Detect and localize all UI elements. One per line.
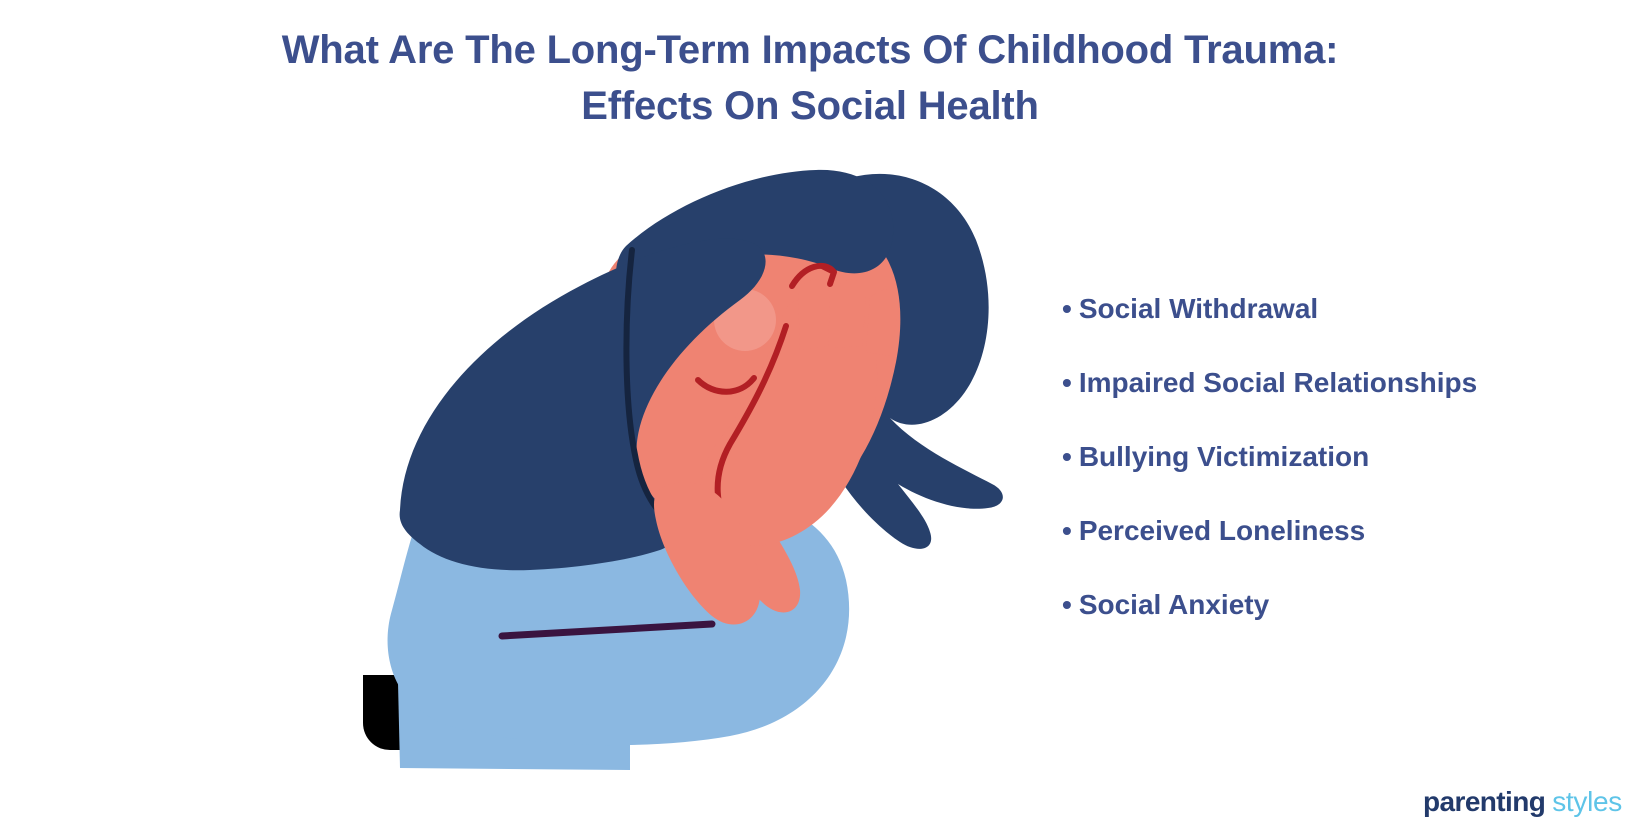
list-item: •Bullying Victimization — [1062, 440, 1637, 474]
list-item: •Perceived Loneliness — [1062, 514, 1637, 548]
list-item-label: Perceived Loneliness — [1079, 515, 1365, 546]
bullet-dot-icon: • — [1062, 440, 1072, 474]
list-item: •Social Withdrawal — [1062, 292, 1637, 326]
page-title: What Are The Long-Term Impacts Of Childh… — [120, 22, 1500, 134]
list-item-label: Social Anxiety — [1079, 589, 1269, 620]
bullet-dot-icon: • — [1062, 366, 1072, 400]
list-item-label: Impaired Social Relationships — [1079, 367, 1477, 398]
list-item: •Impaired Social Relationships — [1062, 366, 1637, 400]
bullet-dot-icon: • — [1062, 292, 1072, 326]
list-item: •Social Anxiety — [1062, 588, 1637, 622]
effects-list: •Social Withdrawal •Impaired Social Rela… — [1062, 292, 1637, 622]
list-item-label: Bullying Victimization — [1079, 441, 1369, 472]
title-line-2: Effects On Social Health — [120, 78, 1500, 134]
sad-person-illustration — [330, 150, 1030, 840]
logo-word-parenting: parenting — [1423, 786, 1545, 818]
list-item-label: Social Withdrawal — [1079, 293, 1318, 324]
bullet-dot-icon: • — [1062, 514, 1072, 548]
bullet-dot-icon: • — [1062, 588, 1072, 622]
brand-logo: parenting styles — [1423, 786, 1622, 818]
hand-fingers — [798, 279, 898, 356]
title-line-1: What Are The Long-Term Impacts Of Childh… — [120, 22, 1500, 78]
logo-word-styles: styles — [1552, 786, 1622, 818]
infographic-canvas: What Are The Long-Term Impacts Of Childh… — [0, 0, 1640, 840]
